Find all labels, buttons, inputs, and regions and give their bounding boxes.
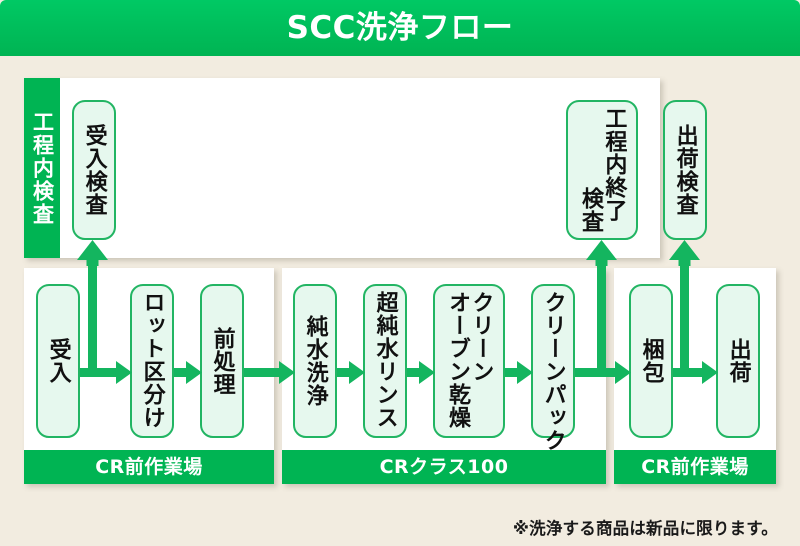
- process-box-lot-sorting-label: ロット区分け: [140, 291, 163, 429]
- flow-group-footer-label-2: CRクラス100: [380, 458, 509, 477]
- arrow-ultrapure-water-rinse-to-clean-oven-drying: [407, 361, 435, 384]
- flow-group-footer-label-1: CR前作業場: [95, 458, 203, 477]
- arrow-clean-pack-to-packing: [575, 361, 631, 384]
- process-box-clean-oven-drying-label-right: クリーン: [469, 291, 492, 383]
- inspection-box-receiving[interactable]: 受入検査: [72, 100, 116, 240]
- inspection-box-in-process-final-label-left: 検査: [579, 187, 602, 233]
- arrow-pre-treatment-to-pure-water-washing: [244, 361, 295, 384]
- process-box-ultrapure-water-rinse[interactable]: 超純水リンス: [363, 284, 407, 438]
- inspection-box-receiving-label: 受入検査: [82, 107, 105, 233]
- process-box-pure-water-washing-label: 純水洗浄: [303, 291, 326, 431]
- process-box-ultrapure-water-rinse-label: 超純水リンス: [373, 291, 396, 429]
- inspection-section-tab: 工程内検査: [24, 78, 60, 258]
- arrow-up-to-shipping-inspection: [669, 240, 700, 266]
- arrow-up-to-in-process-final-inspection: [586, 240, 617, 266]
- process-box-clean-pack[interactable]: クリーンパック: [531, 284, 575, 438]
- connector-line-to-in-process-final-inspection: [597, 256, 606, 372]
- process-box-pre-treatment[interactable]: 前処理: [200, 284, 244, 438]
- flow-group-footer-1: CR前作業場: [24, 450, 274, 484]
- flow-group-footer-2: CRクラス100: [282, 450, 606, 484]
- process-box-receiving-label: 受入: [46, 291, 69, 431]
- arrow-receiving-to-lot-sorting: [80, 361, 132, 384]
- process-box-shipping-label: 出荷: [726, 291, 749, 431]
- arrow-lot-sorting-to-pre-treatment: [174, 361, 202, 384]
- process-box-clean-oven-drying-label-left: オーブン乾燥: [446, 291, 469, 429]
- flow-group-footer-3: CR前作業場: [614, 450, 776, 484]
- arrow-clean-oven-drying-to-clean-pack: [505, 361, 533, 384]
- arrow-packing-to-shipping: [673, 361, 718, 384]
- inspection-box-shipping-label: 出荷検査: [673, 107, 696, 233]
- inspection-box-in-process-final[interactable]: 工程内終了 検査: [566, 100, 638, 240]
- flow-group-footer-label-3: CR前作業場: [641, 458, 749, 477]
- page-title-bar: SCC洗浄フロー: [0, 0, 800, 56]
- process-box-clean-pack-label: クリーンパック: [541, 291, 564, 452]
- process-box-lot-sorting[interactable]: ロット区分け: [130, 284, 174, 438]
- process-box-pure-water-washing[interactable]: 純水洗浄: [293, 284, 337, 438]
- inspection-section-tab-label: 工程内検査: [32, 111, 53, 226]
- inspection-box-in-process-final-label-right: 工程内終了: [602, 107, 625, 222]
- process-box-shipping[interactable]: 出荷: [716, 284, 760, 438]
- connector-line-to-receiving-inspection: [88, 256, 97, 372]
- footnote: ※洗浄する商品は新品に限ります。: [513, 521, 778, 538]
- process-box-packing[interactable]: 梱包: [629, 284, 673, 438]
- inspection-box-shipping[interactable]: 出荷検査: [663, 100, 707, 240]
- connector-line-to-shipping-inspection: [680, 256, 689, 372]
- process-box-clean-oven-drying[interactable]: クリーン オーブン乾燥: [433, 284, 505, 438]
- arrow-up-to-receiving-inspection: [77, 240, 108, 266]
- page-title: SCC洗浄フロー: [287, 13, 514, 44]
- process-box-pre-treatment-label: 前処理: [210, 291, 233, 431]
- arrow-pure-water-washing-to-ultrapure-water-rinse: [337, 361, 365, 384]
- inspection-panel: 工程内検査: [24, 78, 660, 258]
- process-box-packing-label: 梱包: [639, 291, 662, 431]
- process-box-receiving[interactable]: 受入: [36, 284, 80, 438]
